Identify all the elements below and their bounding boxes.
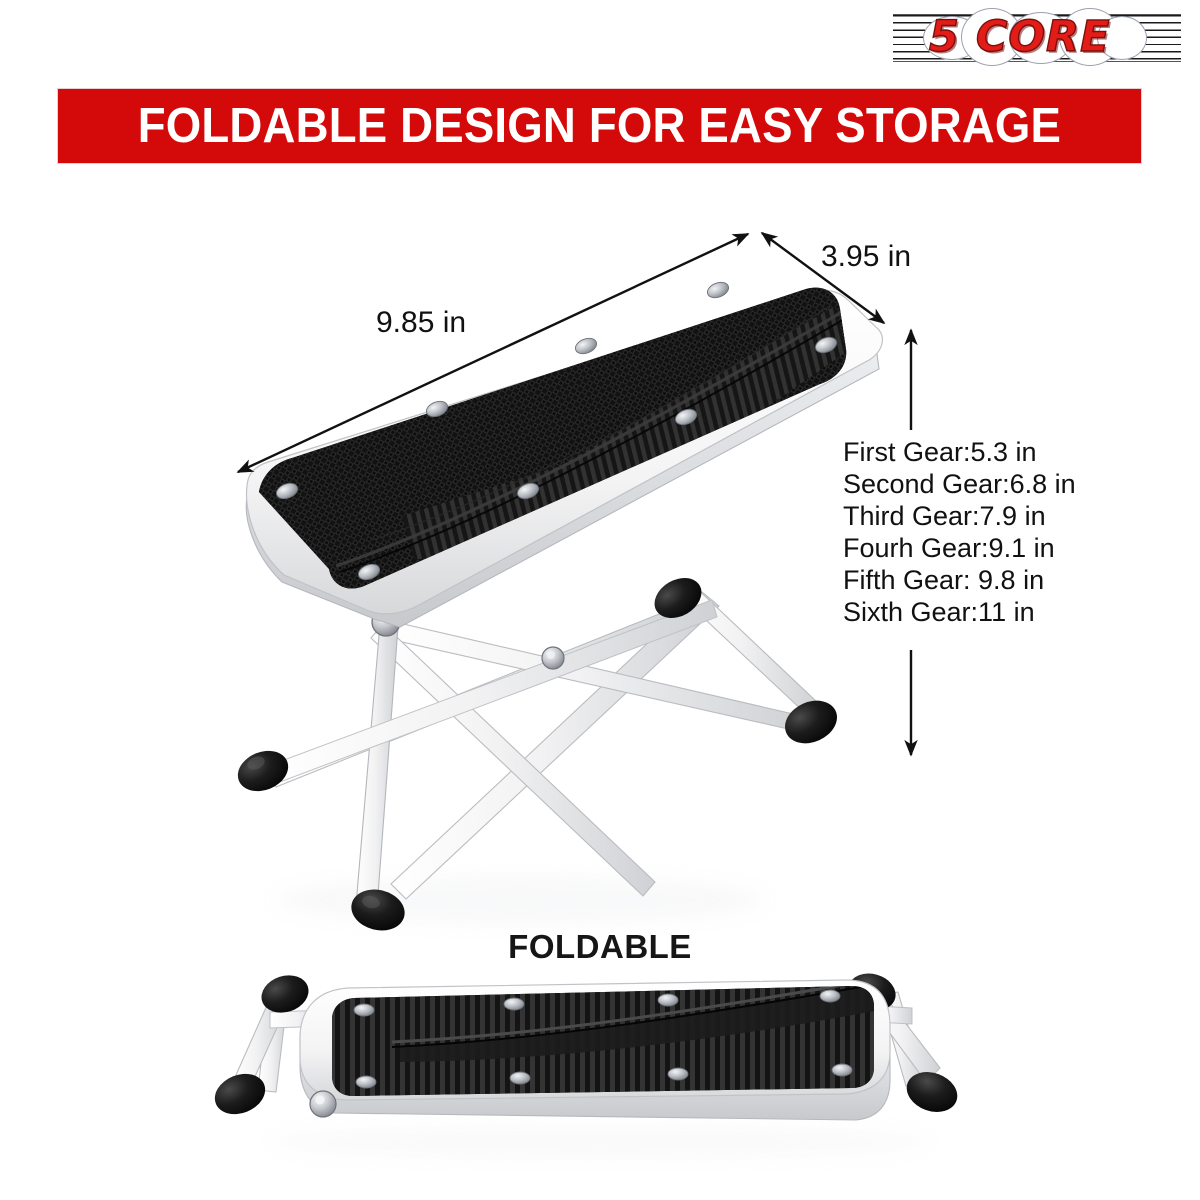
folded-rubber-foot-caps	[209, 968, 963, 1121]
logo-wordmark: 5 CORE	[929, 11, 1149, 63]
rubber-foot-caps	[232, 570, 844, 936]
height-adjust-knob	[372, 608, 400, 636]
folded-platform	[300, 975, 890, 1120]
width-dimension-label: 3.95 in	[821, 240, 911, 274]
length-dimension-label: 9.85 in	[376, 306, 466, 340]
foldable-caption: FOLDABLE	[0, 928, 1200, 966]
gear-row-fifth: Fifth Gear: 9.8 in	[843, 564, 1083, 596]
infographic-page: 5 CORE FOLDABLE DESIGN FOR EASY STORAGE	[0, 0, 1200, 1200]
folded-rubber-grip-mat	[320, 975, 890, 1105]
footrest-leg-assembly	[232, 570, 844, 936]
gear-row-second: Second Gear:6.8 in	[843, 468, 1083, 500]
gear-row-first: First Gear:5.3 in	[843, 436, 1083, 468]
rubber-grip-mat	[240, 275, 860, 605]
headline-banner: FOLDABLE DESIGN FOR EASY STORAGE	[57, 88, 1142, 164]
length-dimension-arrow	[238, 234, 748, 472]
footrest-platform	[240, 275, 882, 627]
headline-text: FOLDABLE DESIGN FOR EASY STORAGE	[138, 100, 1061, 152]
folded-leg-assembly	[209, 968, 963, 1121]
folded-mat-rivets	[354, 990, 852, 1088]
gear-height-list: First Gear:5.3 in Second Gear:6.8 in Thi…	[843, 436, 1083, 628]
folded-hinge-knob	[310, 1091, 336, 1117]
5-core-logo: 5 CORE	[893, 6, 1181, 68]
gear-row-fourth: Fourh Gear:9.1 in	[843, 532, 1083, 564]
center-pivot-rivet	[542, 647, 564, 669]
gear-row-third: Third Gear:7.9 in	[843, 500, 1083, 532]
mat-rivets	[274, 280, 839, 583]
gear-row-sixth: Sixth Gear:11 in	[843, 596, 1083, 628]
